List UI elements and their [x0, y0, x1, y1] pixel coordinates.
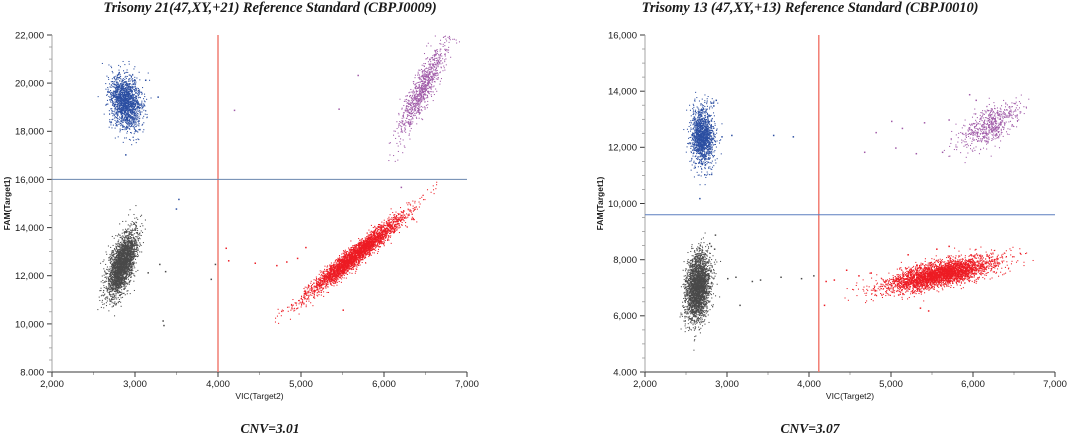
panel-right-caption: CNV=3.07	[540, 421, 1080, 437]
y-tick-label: 10,000	[608, 199, 637, 210]
x-tick-label: 6,000	[372, 379, 396, 390]
y-tick-label: 12,000	[608, 143, 637, 154]
y-axis-title: FAM(Target1)	[2, 176, 12, 230]
scatter-series	[225, 182, 437, 324]
x-tick-label: 2,000	[40, 379, 64, 390]
x-tick-label: 5,000	[289, 379, 313, 390]
y-tick-label: 12,000	[15, 271, 44, 282]
x-tick-label: 7,000	[455, 379, 479, 390]
x-tick-label: 5,000	[879, 379, 903, 390]
y-tick-label: 22,000	[15, 30, 44, 41]
panel-right-plot: 4.0006,0008,00010,00012,00014,00016,0002…	[540, 0, 1080, 443]
x-tick-label: 2,000	[633, 379, 657, 390]
y-tick-label: 20,000	[15, 79, 44, 90]
scatter-series	[98, 61, 180, 210]
y-tick-label: 8,000	[613, 255, 637, 266]
x-tick-label: 4,000	[797, 379, 821, 390]
y-tick-label: 16,000	[15, 175, 44, 186]
scatter-series	[864, 94, 1029, 163]
panel-left-caption: CNV=3.01	[0, 421, 540, 437]
scatter-series	[680, 232, 815, 350]
scatter-series	[824, 246, 1034, 312]
panel-right: Trisomy 13 (47,XY,+13) Reference Standar…	[540, 0, 1080, 443]
scatter-series	[683, 92, 794, 200]
x-tick-label: 3,000	[715, 379, 739, 390]
x-tick-label: 3,000	[123, 379, 147, 390]
scatter-series	[234, 36, 460, 189]
scatter-series	[97, 205, 216, 326]
y-tick-label: 14,000	[608, 87, 637, 98]
y-tick-label: 8.000	[20, 367, 44, 378]
x-tick-label: 7,000	[1043, 379, 1067, 390]
figure-container: Trisomy 21(47,XY,+21) Reference Standard…	[0, 0, 1080, 443]
y-tick-label: 14,000	[15, 223, 44, 234]
y-tick-label: 6,000	[613, 311, 637, 322]
x-tick-label: 4,000	[206, 379, 230, 390]
y-tick-label: 16,000	[608, 30, 637, 41]
y-tick-label: 10,000	[15, 319, 44, 330]
x-axis-title: VIC(Target2)	[235, 391, 283, 401]
y-tick-label: 4.000	[613, 367, 637, 378]
panel-left-plot: 8.00010,00012,00014,00016,00018,00020,00…	[0, 0, 540, 443]
x-axis-title: VIC(Target2)	[826, 391, 874, 401]
y-axis-title: FAM(Target1)	[595, 176, 605, 230]
panel-left: Trisomy 21(47,XY,+21) Reference Standard…	[0, 0, 540, 443]
y-tick-label: 18,000	[15, 127, 44, 138]
x-tick-label: 6,000	[961, 379, 985, 390]
